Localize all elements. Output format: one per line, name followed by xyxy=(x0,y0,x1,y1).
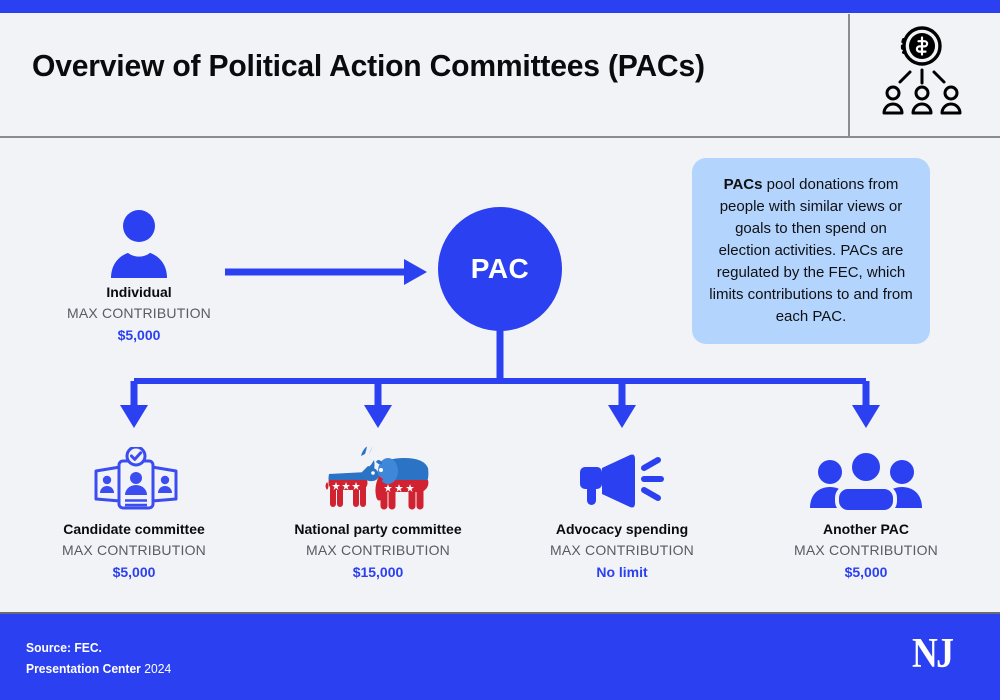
id-cards-icon xyxy=(92,447,180,511)
footer-source: Source: FEC. xyxy=(26,640,102,655)
target-max-label-2: MAX CONTRIBUTION xyxy=(522,542,722,558)
individual-amount: $5,000 xyxy=(39,327,239,343)
header-divider xyxy=(848,14,850,138)
page-title: Overview of Political Action Committees … xyxy=(32,48,705,84)
pac-hub-label: PAC xyxy=(471,253,530,285)
megaphone-icon xyxy=(578,452,666,510)
target-label-3: Another PAC xyxy=(766,521,966,537)
target-max-label-1: MAX CONTRIBUTION xyxy=(278,542,478,558)
target-amount-1: $15,000 xyxy=(278,564,478,580)
pac-hub-circle: PAC xyxy=(438,207,562,331)
target-amount-0: $5,000 xyxy=(34,564,234,580)
target-max-label-3: MAX CONTRIBUTION xyxy=(766,542,966,558)
nj-logo: NJ xyxy=(912,630,952,678)
individual-label: Individual xyxy=(39,284,239,300)
top-accent-bar xyxy=(0,0,1000,13)
target-label-1: National party committee xyxy=(278,521,478,537)
individual-max-label: MAX CONTRIBUTION xyxy=(39,305,239,321)
callout-lead: PACs xyxy=(724,176,763,193)
people-group-icon xyxy=(808,450,924,512)
callout-body: pool donations from people with similar … xyxy=(709,176,912,325)
donkey-elephant-icon xyxy=(324,446,432,512)
footer-pc-name: Presentation Center xyxy=(26,661,141,676)
footer-bar xyxy=(0,612,1000,700)
target-amount-3: $5,000 xyxy=(766,564,966,580)
target-label-2: Advocacy spending xyxy=(522,521,722,537)
footer-pc-year: 2024 xyxy=(144,661,171,676)
target-max-label-0: MAX CONTRIBUTION xyxy=(34,542,234,558)
infographic-page: Overview of Political Action Committees … xyxy=(0,0,1000,700)
money-people-icon xyxy=(874,25,970,115)
target-amount-2: No limit xyxy=(522,564,722,580)
person-icon xyxy=(108,208,170,280)
target-label-0: Candidate committee xyxy=(34,521,234,537)
callout-box: PACs pool donations from people with sim… xyxy=(692,158,930,344)
footer-presentation-center: Presentation Center 2024 xyxy=(26,661,171,676)
